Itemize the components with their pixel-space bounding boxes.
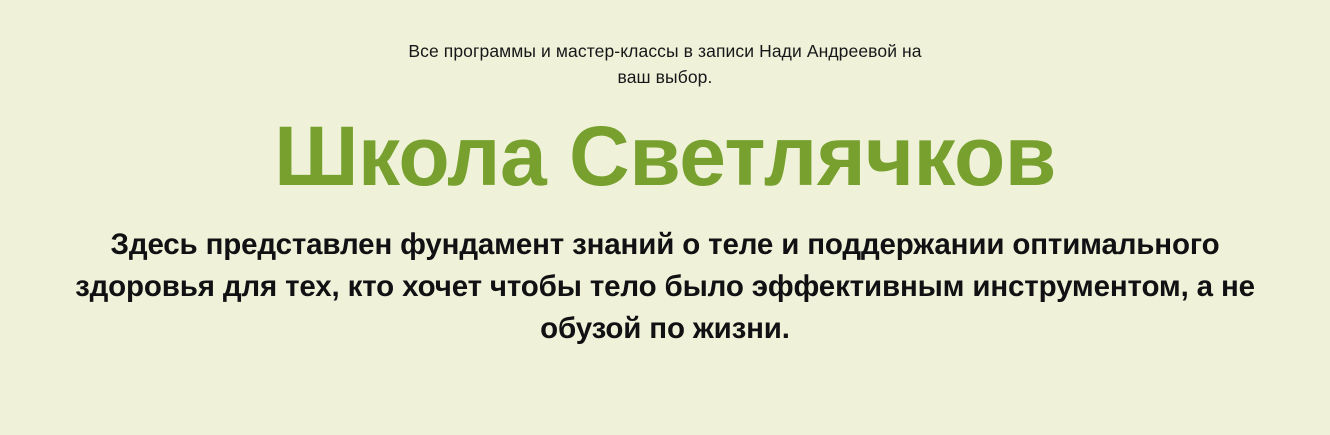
lead-paragraph-line-3: обузой по жизни. [0, 308, 1330, 350]
lead-paragraph-line-1: Здесь представлен фундамент знаний о тел… [0, 224, 1330, 266]
landing-hero-section: Все программы и мастер-классы в записи Н… [0, 0, 1330, 435]
intro-subtitle-line-2: ваш выбор. [0, 64, 1330, 90]
lead-paragraph: Здесь представлен фундамент знаний о тел… [0, 224, 1330, 350]
page-title: Школа Светлячков [0, 108, 1330, 204]
lead-paragraph-line-2: здоровья для тех, кто хочет чтобы тело б… [0, 266, 1330, 308]
intro-subtitle: Все программы и мастер-классы в записи Н… [0, 38, 1330, 90]
intro-subtitle-line-1: Все программы и мастер-классы в записи Н… [0, 38, 1330, 64]
